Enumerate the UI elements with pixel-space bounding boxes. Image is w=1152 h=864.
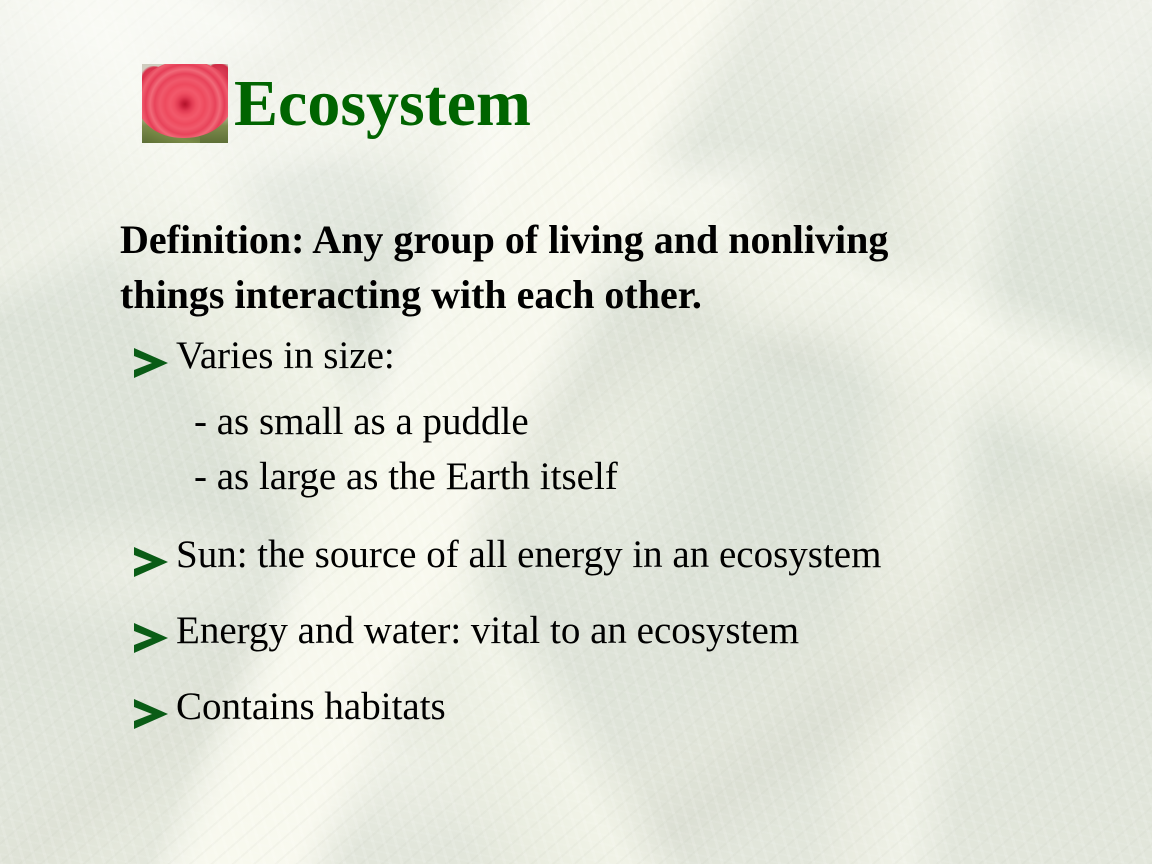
bullet-row: Contains habitats (128, 687, 1128, 739)
definition-line-2: things interacting with each other. (120, 267, 1080, 322)
carnation-petals (142, 64, 228, 138)
sub-list-item: - as large as the Earth itself (194, 449, 1128, 504)
bullet-item-varies-in-size: Varies in size: - as small as a puddle -… (128, 336, 1128, 505)
chevron-right-icon (128, 340, 176, 388)
presentation-slide: Ecosystem Definition: Any group of livin… (0, 0, 1152, 864)
bullet-row: Energy and water: vital to an ecosystem (128, 611, 1128, 663)
bullet-item-energy-and-water: Energy and water: vital to an ecosystem (128, 611, 1128, 663)
chevron-right-icon (128, 615, 176, 663)
bullet-label: Energy and water: vital to an ecosystem (176, 611, 799, 652)
bullet-label: Varies in size: (176, 336, 395, 377)
bullet-item-contains-habitats: Contains habitats (128, 687, 1128, 739)
page-title: Ecosystem (234, 71, 531, 137)
definition-paragraph: Definition: Any group of living and nonl… (120, 212, 1080, 322)
bullet-row: Sun: the source of all energy in an ecos… (128, 535, 1128, 587)
bullet-label: Contains habitats (176, 687, 446, 728)
definition-line-1: Definition: Any group of living and nonl… (120, 212, 1080, 267)
chevron-right-icon (128, 691, 176, 739)
bullet-label: Sun: the source of all energy in an ecos… (176, 535, 881, 576)
carnation-flower-image (142, 64, 228, 143)
bullet-sub-list: - as small as a puddle - as large as the… (194, 394, 1128, 505)
slide-title-row: Ecosystem (142, 64, 531, 143)
bullet-item-sun: Sun: the source of all energy in an ecos… (128, 535, 1128, 587)
spacer (128, 663, 1128, 687)
chevron-right-icon (128, 539, 176, 587)
bullet-row: Varies in size: (128, 336, 1128, 388)
spacer (128, 505, 1128, 535)
spacer (128, 587, 1128, 611)
bullet-list: Varies in size: - as small as a puddle -… (128, 336, 1128, 739)
sub-list-item: - as small as a puddle (194, 394, 1128, 449)
